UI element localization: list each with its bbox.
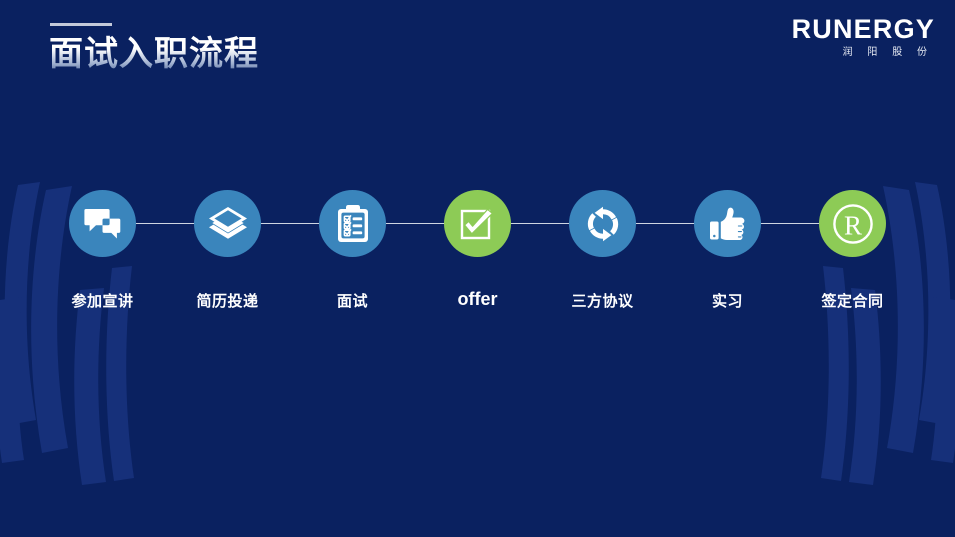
flow-step-label-3: 面试 bbox=[337, 290, 368, 311]
svg-text:R: R bbox=[843, 210, 861, 240]
interview-process-flow: 参加宣讲 简历投递 bbox=[0, 190, 955, 315]
flow-step-label-2: 简历投递 bbox=[196, 290, 258, 311]
flow-node-3[interactable] bbox=[319, 190, 386, 257]
logo-subtext: 润 阳 股 份 bbox=[792, 46, 935, 60]
sync-arrows-icon bbox=[583, 204, 623, 244]
flow-node-5[interactable] bbox=[569, 190, 636, 257]
flow-step-label-1: 参加宣讲 bbox=[71, 290, 133, 311]
flow-step-7[interactable]: R 签定合同 bbox=[790, 190, 915, 311]
flow-step-3[interactable]: 面试 bbox=[290, 190, 415, 311]
brand-logo: RUNERGY 润 阳 股 份 bbox=[792, 14, 935, 60]
flow-node-7[interactable]: R bbox=[819, 190, 886, 257]
flow-node-2[interactable] bbox=[194, 190, 261, 257]
flow-step-5[interactable]: 三方协议 bbox=[540, 190, 665, 311]
checkbox-check-icon bbox=[458, 204, 498, 244]
registered-trademark-icon: R bbox=[831, 202, 875, 246]
flow-node-4[interactable] bbox=[444, 190, 511, 257]
flow-step-label-5: 三方协议 bbox=[571, 290, 633, 311]
thumbs-up-icon bbox=[708, 205, 748, 243]
flow-step-label-6: 实习 bbox=[712, 290, 743, 311]
flow-step-2[interactable]: 简历投递 bbox=[165, 190, 290, 311]
flow-node-6[interactable] bbox=[694, 190, 761, 257]
title-rule bbox=[50, 23, 112, 26]
logo-wordmark: RUNERGY bbox=[792, 14, 935, 44]
flow-node-1[interactable] bbox=[69, 190, 136, 257]
flow-step-label-7: 签定合同 bbox=[821, 290, 883, 311]
flow-step-label-4: offer bbox=[458, 289, 498, 310]
flow-step-1[interactable]: 参加宣讲 bbox=[40, 190, 165, 311]
layers-stack-icon bbox=[208, 206, 248, 242]
flow-step-6[interactable]: 实习 bbox=[665, 190, 790, 311]
clipboard-checklist-icon bbox=[336, 204, 370, 244]
chat-bubbles-icon bbox=[84, 207, 122, 241]
page-title: 面试入职流程 bbox=[49, 32, 259, 76]
slide-header: 面试入职流程 RUNERGY 润 阳 股 份 bbox=[0, 0, 955, 110]
flow-step-4[interactable]: offer bbox=[415, 190, 540, 310]
